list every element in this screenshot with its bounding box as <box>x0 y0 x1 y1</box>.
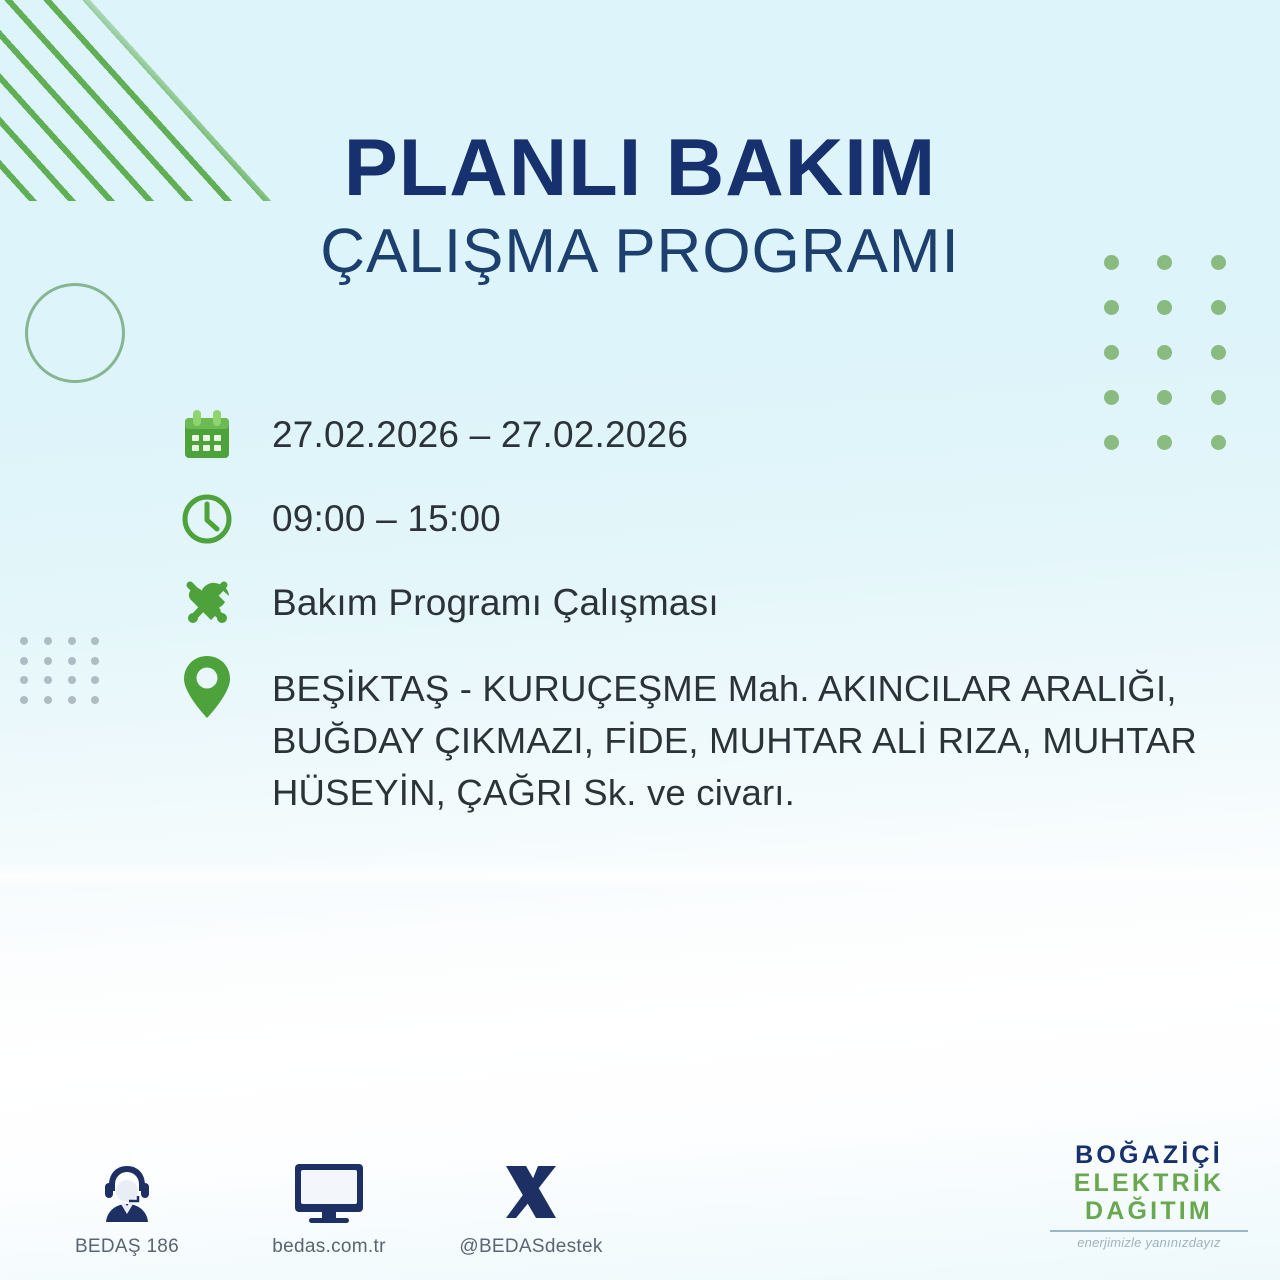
logo-line-elektrik: ELEKTRİK <box>1044 1169 1254 1197</box>
contact-social-label: @BEDASdestek <box>456 1236 606 1258</box>
detail-value-location: BEŞİKTAŞ - KURUÇEŞME Mah. AKINCILAR ARAL… <box>272 656 1256 818</box>
detail-row-work-type: Bakım Programı Çalışması <box>176 572 1256 634</box>
background-light-band <box>0 862 1280 888</box>
detail-row-date: 27.02.2026 – 27.02.2026 <box>176 404 1256 466</box>
logo-slogan: enerjimizle yanınızdayız <box>1044 1235 1254 1250</box>
tools-icon <box>176 572 238 634</box>
monitor-icon <box>254 1154 404 1226</box>
contact-phone[interactable]: BEDAŞ 186 <box>52 1154 202 1258</box>
clock-icon <box>176 488 238 550</box>
details-list: 27.02.2026 – 27.02.2026 09:00 – 15:00 <box>176 404 1256 840</box>
bedas-logo: BOĞAZİÇİ ELEKTRİK DAĞITIM enerjimizle ya… <box>1044 1141 1254 1250</box>
contact-website[interactable]: bedas.com.tr <box>254 1154 404 1258</box>
contact-list: BEDAŞ 186 bedas.com.tr <box>52 1154 606 1258</box>
call-center-agent-icon <box>52 1154 202 1226</box>
logo-divider <box>1050 1230 1248 1232</box>
poster-footer: BEDAŞ 186 bedas.com.tr <box>0 1105 1280 1280</box>
contact-phone-label: BEDAŞ 186 <box>52 1236 202 1258</box>
poster-header: PLANLI BAKIM ÇALIŞMA PROGRAMI <box>0 128 1280 283</box>
contact-social[interactable]: @BEDASdestek <box>456 1154 606 1258</box>
circle-outline-decoration <box>25 283 125 383</box>
logo-line-dagitim: DAĞITIM <box>1044 1197 1254 1225</box>
dot-grid-left-decoration <box>20 637 115 715</box>
contact-website-label: bedas.com.tr <box>254 1236 404 1258</box>
page-title: PLANLI BAKIM <box>0 128 1280 209</box>
page-subtitle: ÇALIŞMA PROGRAMI <box>0 221 1280 283</box>
location-pin-icon <box>176 656 238 718</box>
detail-value-date: 27.02.2026 – 27.02.2026 <box>272 404 688 458</box>
logo-line-bogazici: BOĞAZİÇİ <box>1044 1141 1254 1169</box>
calendar-icon <box>176 404 238 466</box>
x-twitter-icon <box>456 1154 606 1226</box>
detail-row-time: 09:00 – 15:00 <box>176 488 1256 550</box>
planned-maintenance-poster: PLANLI BAKIM ÇALIŞMA PROGRAMI <box>0 0 1280 1280</box>
detail-value-work-type: Bakım Programı Çalışması <box>272 572 719 626</box>
detail-value-time: 09:00 – 15:00 <box>272 488 501 542</box>
detail-row-location: BEŞİKTAŞ - KURUÇEŞME Mah. AKINCILAR ARAL… <box>176 656 1256 818</box>
